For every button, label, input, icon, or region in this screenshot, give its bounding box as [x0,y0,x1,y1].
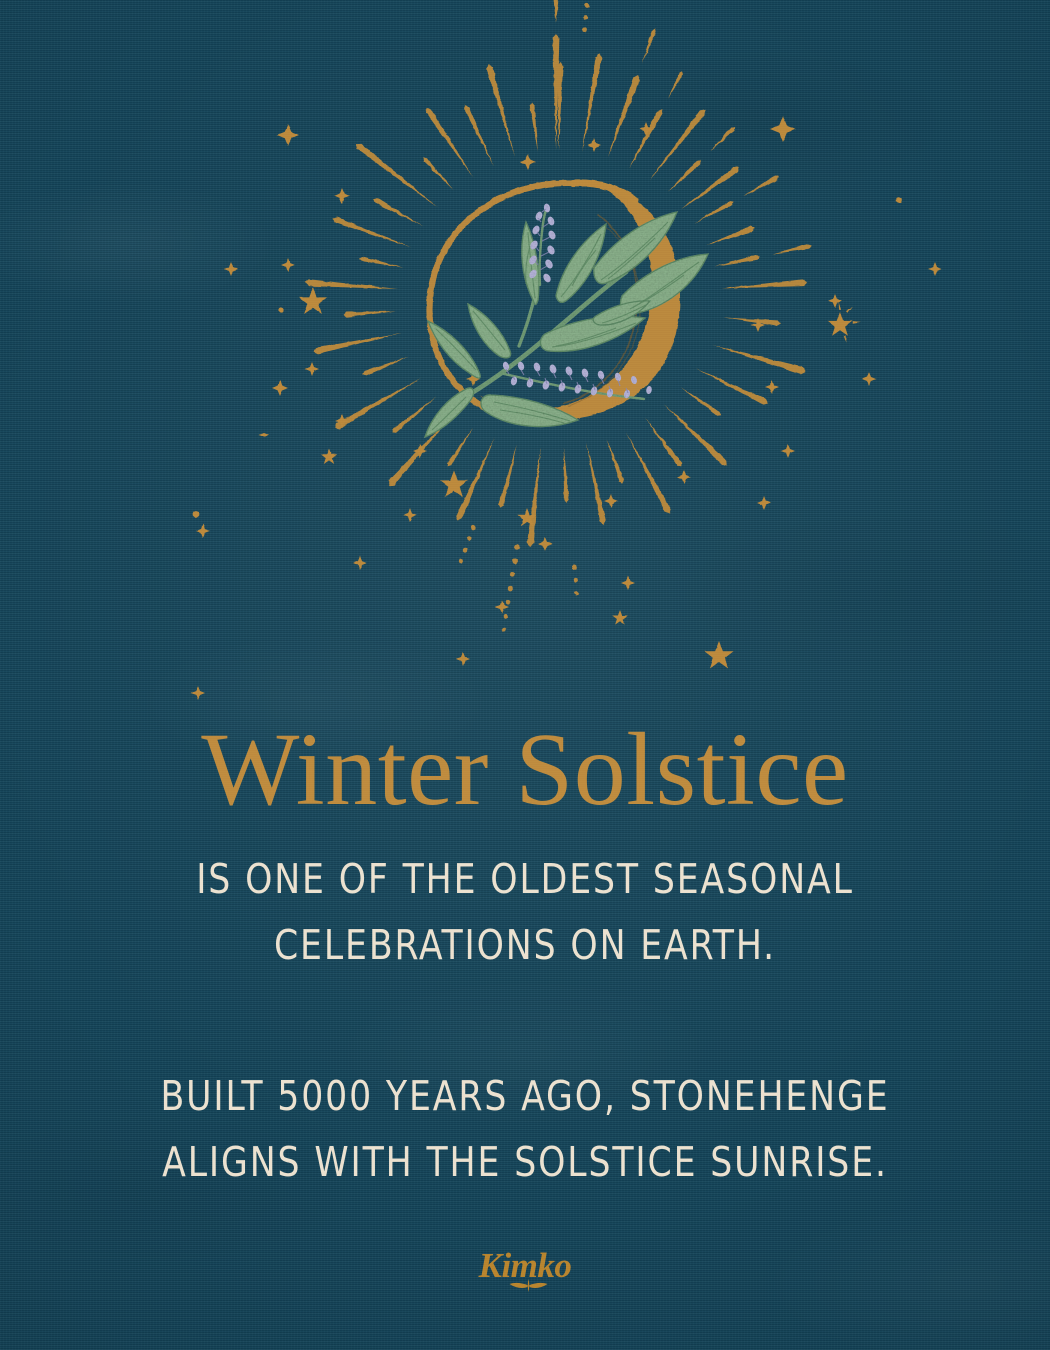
text-content: Winter Solstice IS ONE OF THE OLDEST SEA… [0,700,1050,1196]
sun-moon-botanical-emblem-svg [0,0,1050,700]
winter-solstice-poster: Winter Solstice IS ONE OF THE OLDEST SEA… [0,0,1050,1350]
sunburst-rays [304,0,811,632]
intro-line-2: CELEBRATIONS ON EARTH. [274,921,776,969]
intro-paragraph: IS ONE OF THE OLDEST SEASONAL CELEBRATIO… [32,846,1019,979]
intro-line-1: IS ONE OF THE OLDEST SEASONAL [196,855,854,903]
signature-area: Kimko [0,1248,1050,1283]
brand-signature: Kimko [479,1248,572,1283]
fact-paragraph: BUILT 5000 YEARS AGO, STONEHENGE ALIGNS … [32,1063,1019,1196]
illustration-area [0,0,1050,700]
leaf-flourish-icon [507,1275,551,1293]
fact-line-2: ALIGNS WITH THE SOLSTICE SUNRISE. [162,1138,888,1186]
fact-line-1: BUILT 5000 YEARS AGO, STONEHENGE [160,1072,889,1120]
flower-spike-upper [528,203,557,285]
page-title: Winter Solstice [0,700,1050,822]
